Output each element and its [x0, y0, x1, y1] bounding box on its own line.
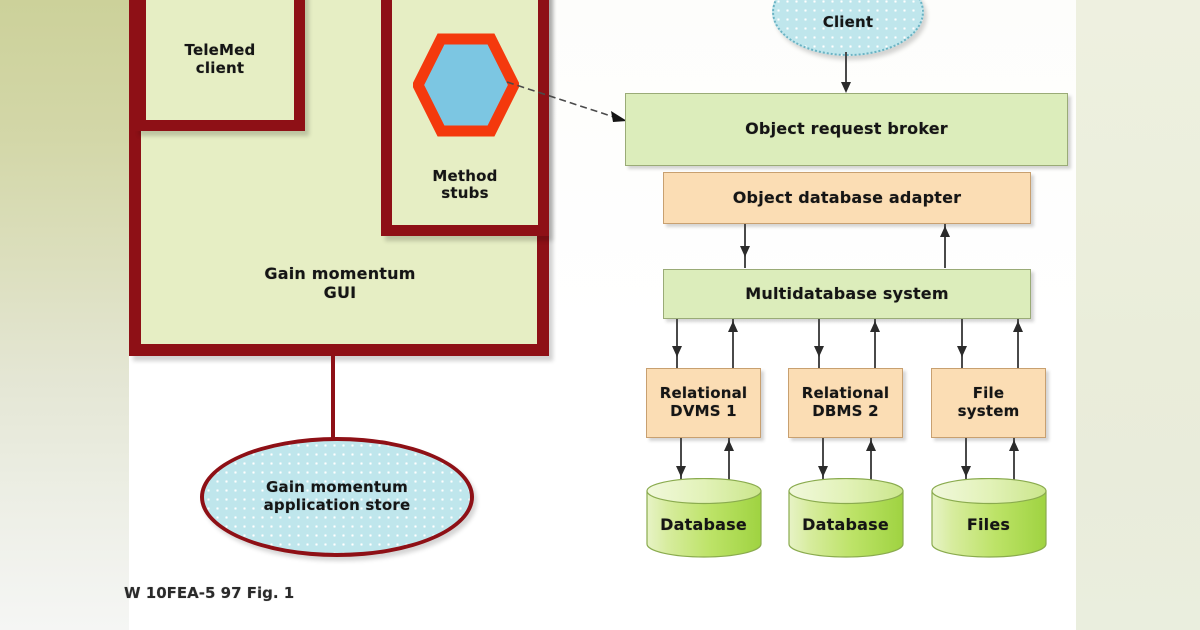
- store-0-to-source-arrowhead-up: [724, 440, 734, 451]
- method-stubs-label-line2: stubs: [441, 185, 488, 203]
- app-store-label-line2: application store: [264, 497, 411, 515]
- store-2-to-source-arrowhead-up: [1009, 440, 1019, 451]
- data-source-box-1[interactable]: Relational DBMS 2: [788, 368, 903, 438]
- client-label: Client: [823, 0, 874, 32]
- data-store-1[interactable]: Database: [787, 478, 905, 558]
- object-request-broker-box[interactable]: Object request broker: [625, 93, 1068, 166]
- object-database-adapter-label: Object database adapter: [733, 189, 961, 208]
- data-source-0-label-line1: Relational: [660, 385, 748, 403]
- data-store-2[interactable]: Files: [930, 478, 1048, 558]
- multidb-to-source-1-line-down: [818, 319, 820, 369]
- data-store-2-label: Files: [930, 516, 1048, 535]
- source-0-to-store-arrowhead-down: [676, 466, 686, 477]
- source-2-to-multidb-arrowhead-up: [1013, 321, 1023, 332]
- multidb-to-source-2-line-down: [961, 319, 963, 369]
- adapter-to-multidb-arrowhead-down: [740, 246, 750, 257]
- telemed-client-label-line1: TeleMed: [185, 42, 256, 60]
- multidb-to-adapter-arrowhead-up: [940, 226, 950, 237]
- object-database-adapter-box[interactable]: Object database adapter: [663, 172, 1031, 224]
- gain-momentum-gui-label: Gain momentum GUI: [150, 258, 530, 310]
- multidatabase-system-label: Multidatabase system: [745, 285, 948, 304]
- data-store-0-label: Database: [645, 516, 763, 535]
- data-source-1-label-line1: Relational: [802, 385, 890, 403]
- source-1-to-store-arrowhead-down: [818, 466, 828, 477]
- telemed-client-label-line2: client: [196, 60, 244, 78]
- gain-momentum-application-store[interactable]: Gain momentum application store: [200, 437, 474, 557]
- source-1-to-multidb-arrowhead-up: [870, 321, 880, 332]
- page-background-right: [1076, 0, 1200, 630]
- multidb-to-source-1-arrowhead-down: [814, 346, 824, 357]
- multidb-to-source-0-arrowhead-down: [672, 346, 682, 357]
- source-2-to-store-arrowhead-down: [961, 466, 971, 477]
- method-stubs-label-line1: Method: [432, 168, 497, 186]
- gui-label-line2: GUI: [324, 284, 357, 303]
- page-background-left: [0, 0, 129, 630]
- data-source-0-label-line2: DVMS 1: [670, 403, 737, 421]
- multidatabase-system-box[interactable]: Multidatabase system: [663, 269, 1031, 319]
- app-store-label-line1: Gain momentum: [266, 479, 408, 497]
- telemed-client-box[interactable]: TeleMed client: [135, 0, 305, 131]
- hexagon-icon: [413, 33, 519, 137]
- client-to-orb-arrowhead: [841, 82, 851, 93]
- data-source-box-0[interactable]: Relational DVMS 1: [646, 368, 761, 438]
- data-source-2-label-line1: File: [973, 385, 1005, 403]
- stub-to-orb-connector: [505, 78, 633, 132]
- data-source-2-label-line2: system: [958, 403, 1020, 421]
- data-store-1-label: Database: [787, 516, 905, 535]
- multidb-to-source-2-arrowhead-down: [957, 346, 967, 357]
- object-request-broker-label: Object request broker: [745, 120, 948, 139]
- diagram-canvas: Gain momentum GUI TeleMed client Method …: [0, 0, 1200, 630]
- gui-label-line1: Gain momentum: [264, 265, 415, 284]
- client-to-orb-line: [845, 52, 847, 86]
- source-0-to-multidb-arrowhead-up: [728, 321, 738, 332]
- store-1-to-source-arrowhead-up: [866, 440, 876, 451]
- data-store-0[interactable]: Database: [645, 478, 763, 558]
- figure-caption: W 10FEA-5 97 Fig. 1: [124, 584, 294, 602]
- data-source-1-label-line2: DBMS 2: [812, 403, 878, 421]
- data-source-box-2[interactable]: File system: [931, 368, 1046, 438]
- multidb-to-source-0-line-down: [676, 319, 678, 369]
